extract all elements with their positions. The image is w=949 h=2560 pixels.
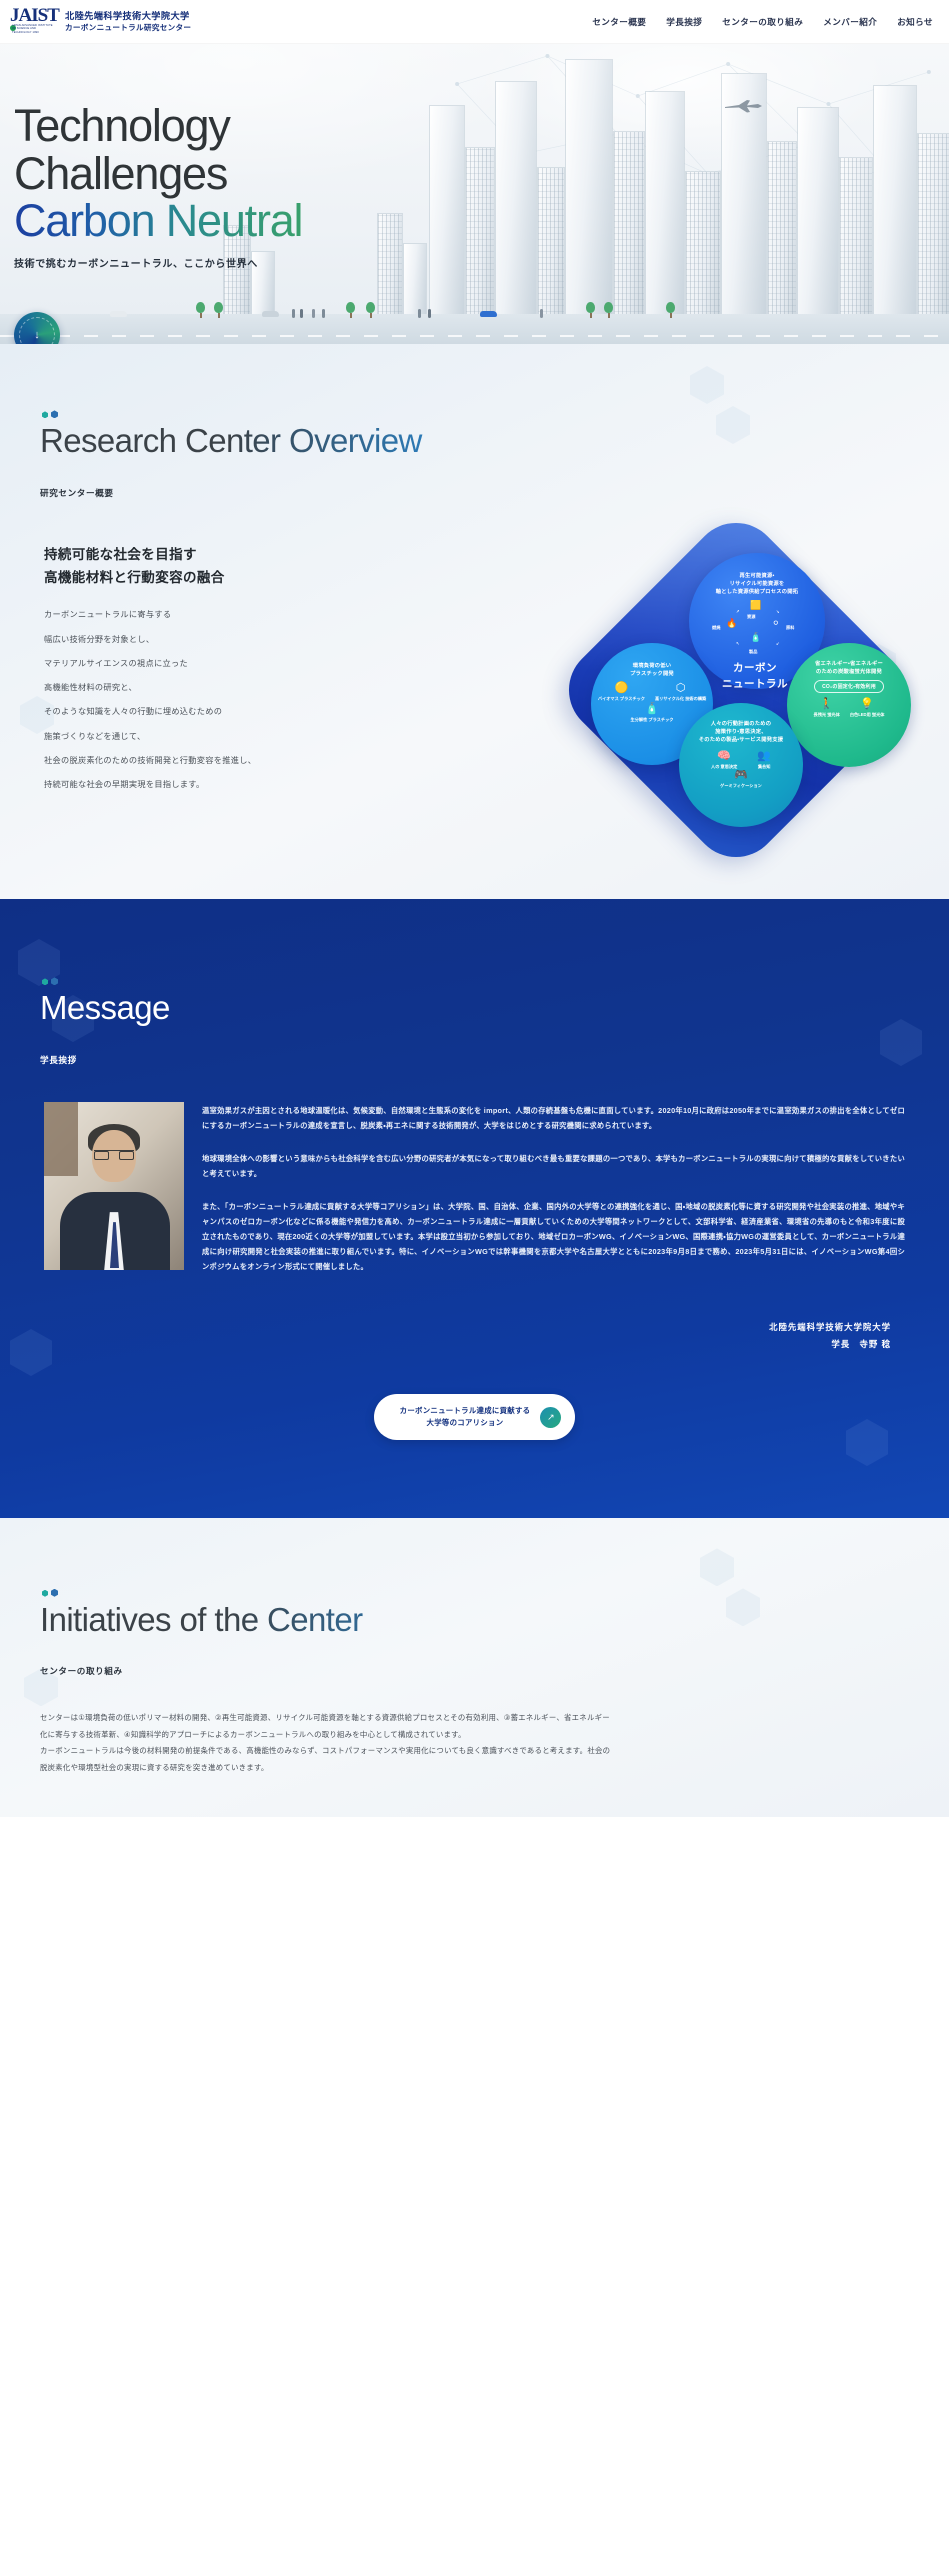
- portrait-glasses: [94, 1150, 134, 1159]
- gamepad-icon: 🎮: [720, 770, 762, 781]
- pellets-icon: 🟨: [750, 601, 761, 610]
- bottle-icon: 🧴: [750, 633, 761, 642]
- nav-item-members[interactable]: メンバー紹介: [823, 16, 877, 28]
- node-label-gamification: ゲーミフィケーション: [720, 783, 762, 789]
- node-label-phosphor: 長残光 蛍光体: [814, 712, 840, 718]
- cycle-arrow-icon: ↘: [776, 609, 780, 614]
- hexagon-dots-decoration: [42, 410, 58, 418]
- jaist-logo-subtext: JAPAN ADVANCED INSTITUTE OF SCIENCE AND …: [12, 24, 56, 35]
- node-label-biomass: バイオマス プラスチック: [598, 696, 645, 702]
- overview-heading-line1: 持続可能な社会を目指す: [44, 543, 340, 566]
- hexagon-decoration: [700, 1548, 734, 1586]
- hexagon-dots-decoration: [42, 977, 58, 985]
- cycle-arrow-icon: ↖: [736, 641, 740, 646]
- brand-logo[interactable]: JAIST JAPAN ADVANCED INSTITUTE OF SCIENC…: [10, 5, 191, 39]
- node-label-degradable: 生分解性 プラスチック: [631, 717, 674, 723]
- airplane-icon: [724, 99, 764, 113]
- granules-icon: ⚪: [772, 619, 780, 628]
- message-title: Message: [40, 990, 909, 1026]
- bubble-top-title-line1: 再生可能資源・: [716, 572, 798, 580]
- brand-text: 北陸先端科学技術大学院大学 カーボンニュートラル研究センター: [65, 10, 191, 33]
- bubble-bottom-title-line2: 施策作り・意思決定、: [699, 728, 783, 736]
- overview-paragraph-line: 幅広い技術分野を対象とし、: [44, 636, 340, 644]
- diagram-node-gamification: 🎮 ゲーミフィケーション: [720, 770, 762, 789]
- brand-line1: 北陸先端科学技術大学院大学: [65, 10, 191, 22]
- message-paragraph-1: 温室効果ガスが主因とされる地球温暖化は、気候変動、自然環境と生態系の変化を im…: [202, 1104, 905, 1134]
- message-paragraph-2: 地球環境全体への影響という意味からも社会科学を含む広い分野の研究者が本気になって…: [202, 1152, 905, 1182]
- overview-text-column: 持続可能な社会を目指す 高機能材料と行動変容の融合 カーボンニュートラルに寄与す…: [40, 543, 340, 805]
- portrait-wall-frame: [44, 1102, 78, 1176]
- hero-ground: [0, 314, 949, 344]
- overview-paragraph-line: 持続可能な社会の早期実現を目指します。: [44, 781, 340, 789]
- diagram-node-led: 💡 白色LED用 蛍光体: [850, 699, 885, 718]
- cycle-label-material: 原料: [786, 625, 794, 631]
- overview-paragraph-line: マテリアルサイエンスの視点に立った: [44, 660, 340, 668]
- hexagon-decoration: [690, 366, 724, 404]
- overview-paragraph-line: 施策づくりなどを通じて、: [44, 733, 340, 741]
- biomass-icon: 🟡: [598, 683, 645, 694]
- cycle-arrow-icon: ↙: [776, 641, 780, 646]
- diagram-node-degradable: 🧴 生分解性 プラスチック: [631, 704, 674, 723]
- crowd-icon: 👥: [757, 751, 771, 762]
- degradable-icon: 🧴: [631, 704, 674, 715]
- signature-name: 学長 寺野 稔: [40, 1336, 891, 1354]
- overview-title: Research Center Overview: [40, 423, 909, 459]
- diagram-node-phosphor: 🚶 長残光 蛍光体: [814, 699, 840, 718]
- initiatives-paragraph-line: センターは①環境負荷の低いポリマー材料の開発、②再生可能資源、リサイクル可能資源…: [40, 1711, 909, 1725]
- nav-item-news[interactable]: お知らせ: [897, 16, 933, 28]
- cta-label-line2: 大学等のコアリション: [400, 1417, 531, 1429]
- signature-organization: 北陸先端科学技術大学院大学: [40, 1319, 891, 1337]
- message-subtitle: 学長挨拶: [40, 1054, 909, 1066]
- bubble-top-title-line2: リサイクル可能資源を: [716, 580, 798, 588]
- hero-title-line2: Challenges: [14, 150, 302, 198]
- resource-cycle-graphic: 🟨 資源 ⚪ 原料 🧴 製品 🔥 燃焼 ↗ ↘ ↙ ↖: [714, 601, 800, 659]
- nav-item-initiatives[interactable]: センターの取り組み: [722, 16, 803, 28]
- bubble-top-title-line3: 軸とした資源供給プロセスの開拓: [716, 588, 798, 596]
- site-header: JAIST JAPAN ADVANCED INSTITUTE OF SCIENC…: [0, 0, 949, 44]
- diagram-node-collective: 👥 集合知: [757, 751, 771, 770]
- center-label-line2: ニュートラル: [695, 677, 815, 693]
- node-label-led: 白色LED用 蛍光体: [850, 712, 885, 718]
- carbon-neutral-concept-diagram: 再生可能資源・ リサイクル可能資源を 軸とした資源供給プロセスの開拓 🟨 資源 …: [583, 543, 913, 833]
- diagram-node-biomass: 🟡 バイオマス プラスチック: [598, 683, 645, 702]
- node-label-recycle: 高リサイクル化 技術の構築: [655, 696, 706, 702]
- overview-paragraph-line: 社会の脱炭素化のための技術開発と行動変容を推進し、: [44, 757, 340, 765]
- overview-heading-line2: 高機能材料と行動変容の融合: [44, 566, 340, 589]
- cycle-arrow-icon: ↗: [736, 609, 740, 614]
- initiatives-subtitle: センターの取り組み: [40, 1665, 909, 1677]
- initiatives-paragraph-line: 脱炭素化や環境型社会の実現に資する研究を突き進めていきます。: [40, 1761, 909, 1775]
- bubble-left-title-line2: プラスチック開発: [630, 670, 674, 678]
- bubble-right-title-line1: 省エネルギー・省エネルギー: [815, 660, 883, 668]
- cta-label-line1: カーボンニュートラル達成に貢献する: [400, 1405, 531, 1417]
- node-label-collective: 集合知: [757, 764, 771, 770]
- initiatives-paragraph-line: カーボンニュートラルは今後の材料開発の前提条件である、高機能性のみならず、コスト…: [40, 1744, 909, 1758]
- message-signature: 北陸先端科学技術大学院大学 学長 寺野 稔: [40, 1319, 909, 1354]
- diagram-bubble-behavior: 人々の行動計画のための 施策作り・意思決定、 そのための製品・サービス開発支援 …: [679, 703, 803, 827]
- initiatives-paragraph-line: 化に寄与する技術革新、④知識科学的アプローチによるカーボンニュートラルへの取り組…: [40, 1728, 909, 1742]
- overview-paragraph-line: カーボンニュートラルに寄与する: [44, 611, 340, 619]
- initiatives-section: Initiatives of the Center センターの取り組み センター…: [0, 1518, 949, 1817]
- president-portrait-photo: [44, 1102, 184, 1270]
- cycle-label-resource: 資源: [747, 614, 755, 620]
- hexagon-dots-decoration: [42, 1589, 58, 1597]
- nav-item-president-message[interactable]: 学長挨拶: [666, 16, 702, 28]
- initiatives-paragraph: センターは①環境負荷の低いポリマー材料の開発、②再生可能資源、リサイクル可能資源…: [40, 1711, 909, 1775]
- hero-road-markings: [0, 335, 949, 337]
- hero-subtitle: 技術で挑むカーボンニュートラル、ここから世界へ: [14, 255, 302, 270]
- hero-section: Technology Challenges Carbon Neutral 技術で…: [0, 44, 949, 344]
- message-heading-block: Message 学長挨拶: [40, 990, 909, 1066]
- co2-pill-badge: CO₂の固定化・有効利用: [814, 680, 884, 693]
- jaist-logo-icon[interactable]: JAIST JAPAN ADVANCED INSTITUTE OF SCIENC…: [10, 5, 56, 39]
- scroll-down-arrow-icon: ↓: [34, 330, 40, 341]
- diagram-node-decision: 🧠 人の 意思決定: [711, 751, 737, 770]
- bubble-right-title-line2: のための炭酸塩蛍光体開発: [815, 668, 883, 676]
- overview-subtitle: 研究センター概要: [40, 487, 909, 499]
- external-link-arrow-icon: ↗: [540, 1407, 561, 1428]
- overview-paragraph-line: そのような知識を人々の行動に埋め込むための: [44, 708, 340, 716]
- nav-item-center-overview[interactable]: センター概要: [592, 16, 646, 28]
- overview-paragraph-line: 高機能性材料の研究と、: [44, 684, 340, 692]
- exit-sign-icon: 🚶: [814, 699, 840, 710]
- flame-icon: 🔥: [726, 619, 737, 628]
- cycle-label-combustion: 燃焼: [712, 625, 720, 631]
- coalition-cta-button[interactable]: カーボンニュートラル達成に貢献する 大学等のコアリション ↗: [374, 1394, 576, 1440]
- hero-copy: Technology Challenges Carbon Neutral 技術で…: [14, 102, 302, 270]
- bubble-bottom-title-line3: そのための製品・サービス開発支援: [699, 736, 783, 744]
- initiatives-title: Initiatives of the Center: [40, 1602, 909, 1638]
- brain-icon: 🧠: [711, 751, 737, 762]
- message-section: Message 学長挨拶 温室効果ガスが主因とされる地球温暖化は、気候変動、自然…: [0, 899, 949, 1518]
- bubble-left-title-line1: 環境負荷の低い: [630, 662, 674, 670]
- bubble-bottom-title-line1: 人々の行動計画のための: [699, 720, 783, 728]
- jaist-wordmark: JAIST: [10, 6, 59, 25]
- brand-line2: カーボンニュートラル研究センター: [65, 23, 191, 33]
- message-text-block: 温室効果ガスが主因とされる地球温暖化は、気候変動、自然環境と生態系の変化を im…: [202, 1102, 909, 1293]
- overview-paragraph: カーボンニュートラルに寄与する 幅広い技術分野を対象とし、 マテリアルサイエンス…: [44, 611, 340, 789]
- hero-title-line3: Carbon Neutral: [14, 197, 302, 245]
- center-label-line1: カーボン: [695, 661, 815, 677]
- initiatives-heading-block: Initiatives of the Center センターの取り組み: [40, 1602, 909, 1678]
- main-navigation[interactable]: センター概要 学長挨拶 センターの取り組み メンバー紹介 お知らせ: [592, 16, 933, 28]
- diagram-center-label: カーボン ニュートラル: [695, 661, 815, 693]
- bulb-icon: 💡: [850, 699, 885, 710]
- hero-title-line1: Technology: [14, 102, 302, 150]
- overview-heading-block: Research Center Overview 研究センター概要: [40, 423, 909, 499]
- research-overview-section: Research Center Overview 研究センター概要 持続可能な社…: [0, 344, 949, 899]
- message-paragraph-3: また、「カーボンニュートラル達成に貢献する大学等コアリション」は、大学院、国、自…: [202, 1200, 905, 1275]
- cycle-label-product: 製品: [749, 649, 757, 655]
